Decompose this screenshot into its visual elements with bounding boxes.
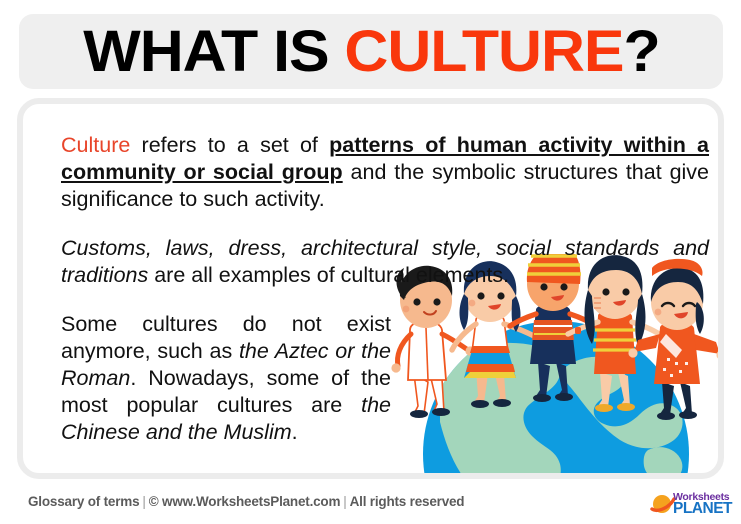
page-title-question-mark: ? <box>623 19 659 84</box>
page-title: WHAT IS CULTURE? <box>83 23 659 81</box>
content-card: Culture refers to a set of patterns of h… <box>17 98 724 479</box>
footer-separator-1: | <box>139 494 148 509</box>
paragraph-history-seg5: . <box>292 420 298 444</box>
footer-separator-2: | <box>340 494 349 509</box>
footer-bar: Glossary of terms|© www.WorksheetsPlanet… <box>0 485 741 524</box>
paragraph-examples-rest: are all examples of cultural elements. <box>148 263 509 287</box>
worksheets-planet-logo[interactable]: Worksheets PLANET <box>650 489 732 519</box>
title-banner: WHAT IS CULTURE? <box>19 14 723 89</box>
paragraph-examples: Customs, laws, dress, architectural styl… <box>61 235 709 289</box>
paragraph-definition: Culture refers to a set of patterns of h… <box>61 132 709 213</box>
paragraph-history: Some cultures do not exist anymore, such… <box>61 311 391 446</box>
footer-glossary-label: Glossary of terms <box>28 494 139 509</box>
footer-rights-label: All rights reserved <box>350 494 465 509</box>
paragraph-definition-seg2: refers to a set of <box>130 133 329 157</box>
definition-text-column: Culture refers to a set of patterns of h… <box>61 132 709 446</box>
page-title-accent: CULTURE <box>344 19 623 84</box>
page-title-lead: WHAT IS <box>83 19 344 84</box>
logo-wordmark: Worksheets PLANET <box>673 492 732 517</box>
logo-word-planet: PLANET <box>673 501 732 517</box>
footer-credit-line: Glossary of terms|© www.WorksheetsPlanet… <box>28 494 464 509</box>
copyright-icon: © <box>149 494 159 509</box>
footer-site-url[interactable]: www.WorksheetsPlanet.com <box>162 494 340 509</box>
keyword-culture: Culture <box>61 133 130 157</box>
